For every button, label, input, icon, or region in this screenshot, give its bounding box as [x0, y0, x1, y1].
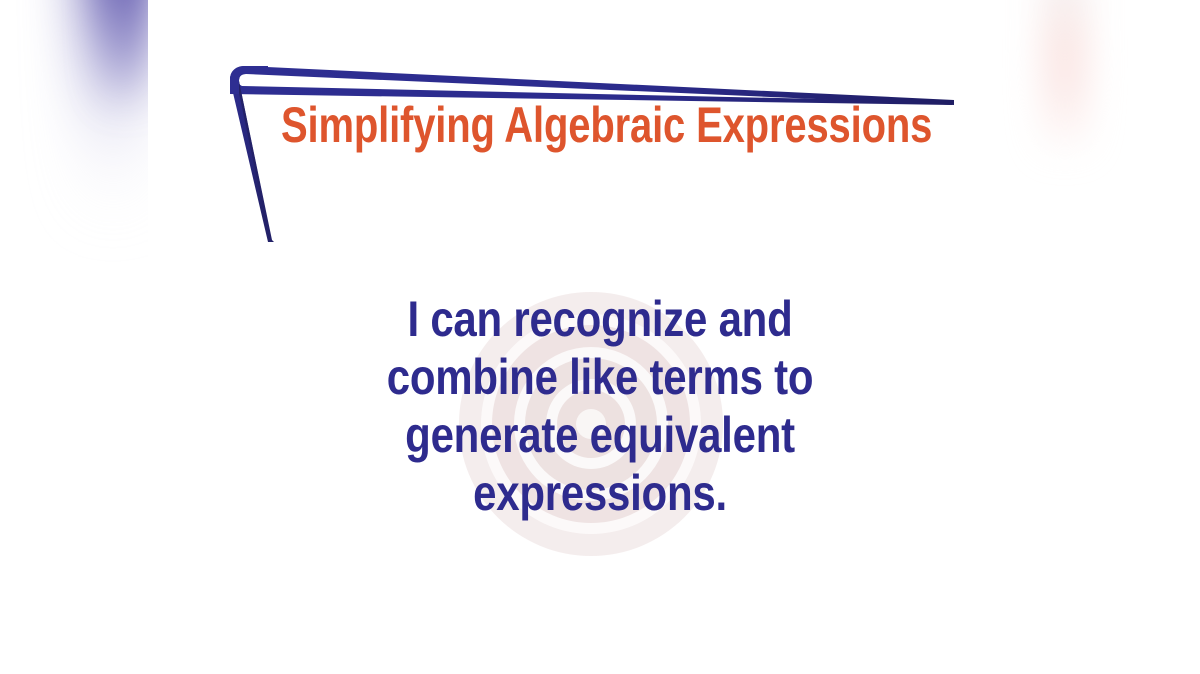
statement-line: generate equivalent: [340, 406, 861, 464]
learning-objective-statement: I can recognize and combine like terms t…: [290, 290, 910, 522]
blue-corner-bracket: [228, 60, 968, 255]
purple-glow-clip: [0, 0, 148, 320]
statement-line: expressions.: [340, 464, 861, 522]
statement-line: combine like terms to: [340, 348, 861, 406]
page-title: Simplifying Algebraic Expressions: [281, 96, 932, 154]
slide-canvas: Simplifying Algebraic Expressions I can …: [0, 0, 1200, 674]
pink-glow: [1040, 0, 1090, 160]
statement-line: I can recognize and: [340, 290, 861, 348]
purple-glow-core: [104, 0, 148, 110]
purple-glow: [78, 0, 148, 230]
